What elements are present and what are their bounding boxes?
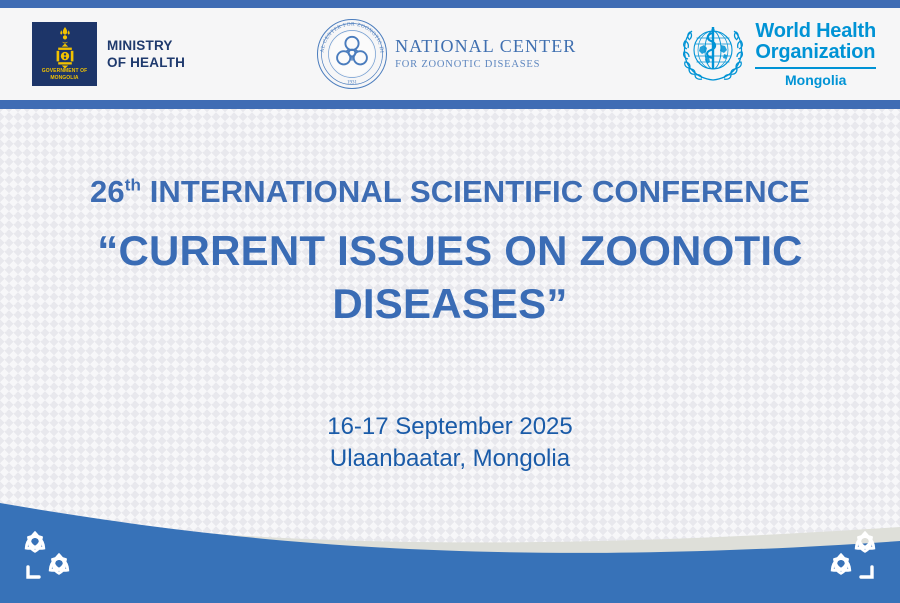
conference-heading: 26th INTERNATIONAL SCIENTIFIC CONFERENCE [0, 174, 900, 210]
national-center-name-line2: FOR ZOONOTIC DISEASES [395, 59, 576, 71]
who-wordmark: World Health Organization Mongolia [755, 21, 876, 87]
wave-band-icon [0, 473, 900, 603]
national-center-name: NATIONAL CENTER FOR ZOONOTIC DISEASES [395, 37, 576, 70]
svg-text:1931: 1931 [347, 81, 358, 86]
who-name-line2: Organization [755, 42, 876, 63]
logo-header-band: GOVERNMENT OF MONGOLIA MINISTRY OF HEALT… [0, 8, 900, 100]
who-divider-rule [755, 67, 876, 69]
ministry-name: MINISTRY OF HEALTH [107, 37, 185, 71]
ministry-name-line2: OF HEALTH [107, 54, 185, 71]
who-name-line1: World Health [755, 21, 876, 42]
event-meta: 16-17 September 2025 Ulaanbaatar, Mongol… [0, 411, 900, 475]
crest-caption-line2: MONGOLIA [50, 75, 78, 81]
event-location: Ulaanbaatar, Mongolia [0, 443, 900, 475]
ministry-name-line1: MINISTRY [107, 37, 185, 54]
page-title: “CURRENT ISSUES ON ZOONOTIC DISEASES” [50, 224, 850, 330]
conference-title-slide: GOVERNMENT OF MONGOLIA MINISTRY OF HEALT… [0, 0, 900, 603]
ministry-of-health-logo: GOVERNMENT OF MONGOLIA MINISTRY OF HEALT… [32, 22, 185, 86]
who-country-label: Mongolia [755, 73, 876, 87]
top-accent-bar [0, 0, 900, 8]
triquetra-knot-ornament-icon [816, 525, 886, 585]
who-logo: World Health Organization Mongolia [680, 21, 876, 87]
conference-number-suffix: th [125, 176, 141, 195]
national-center-name-line1: NATIONAL CENTER [395, 37, 576, 57]
crest-caption-line1: GOVERNMENT OF [42, 68, 87, 74]
biohazard-seal-icon: NATIONAL CENTER FOR ZOONOTIC DISEASES 19… [315, 17, 389, 91]
event-dates: 16-17 September 2025 [0, 411, 900, 443]
national-center-zoonotic-diseases-logo: NATIONAL CENTER FOR ZOONOTIC DISEASES 19… [315, 17, 576, 91]
crest-caption: GOVERNMENT OF MONGOLIA [32, 68, 97, 81]
mongolia-soyombo-crest-icon: GOVERNMENT OF MONGOLIA [32, 22, 97, 86]
header-divider-bar [0, 100, 900, 109]
triquetra-knot-ornament-icon [14, 525, 84, 585]
conference-heading-text: INTERNATIONAL SCIENTIFIC CONFERENCE [150, 174, 810, 209]
who-emblem-icon [680, 23, 746, 85]
conference-number: 26 [90, 174, 125, 209]
